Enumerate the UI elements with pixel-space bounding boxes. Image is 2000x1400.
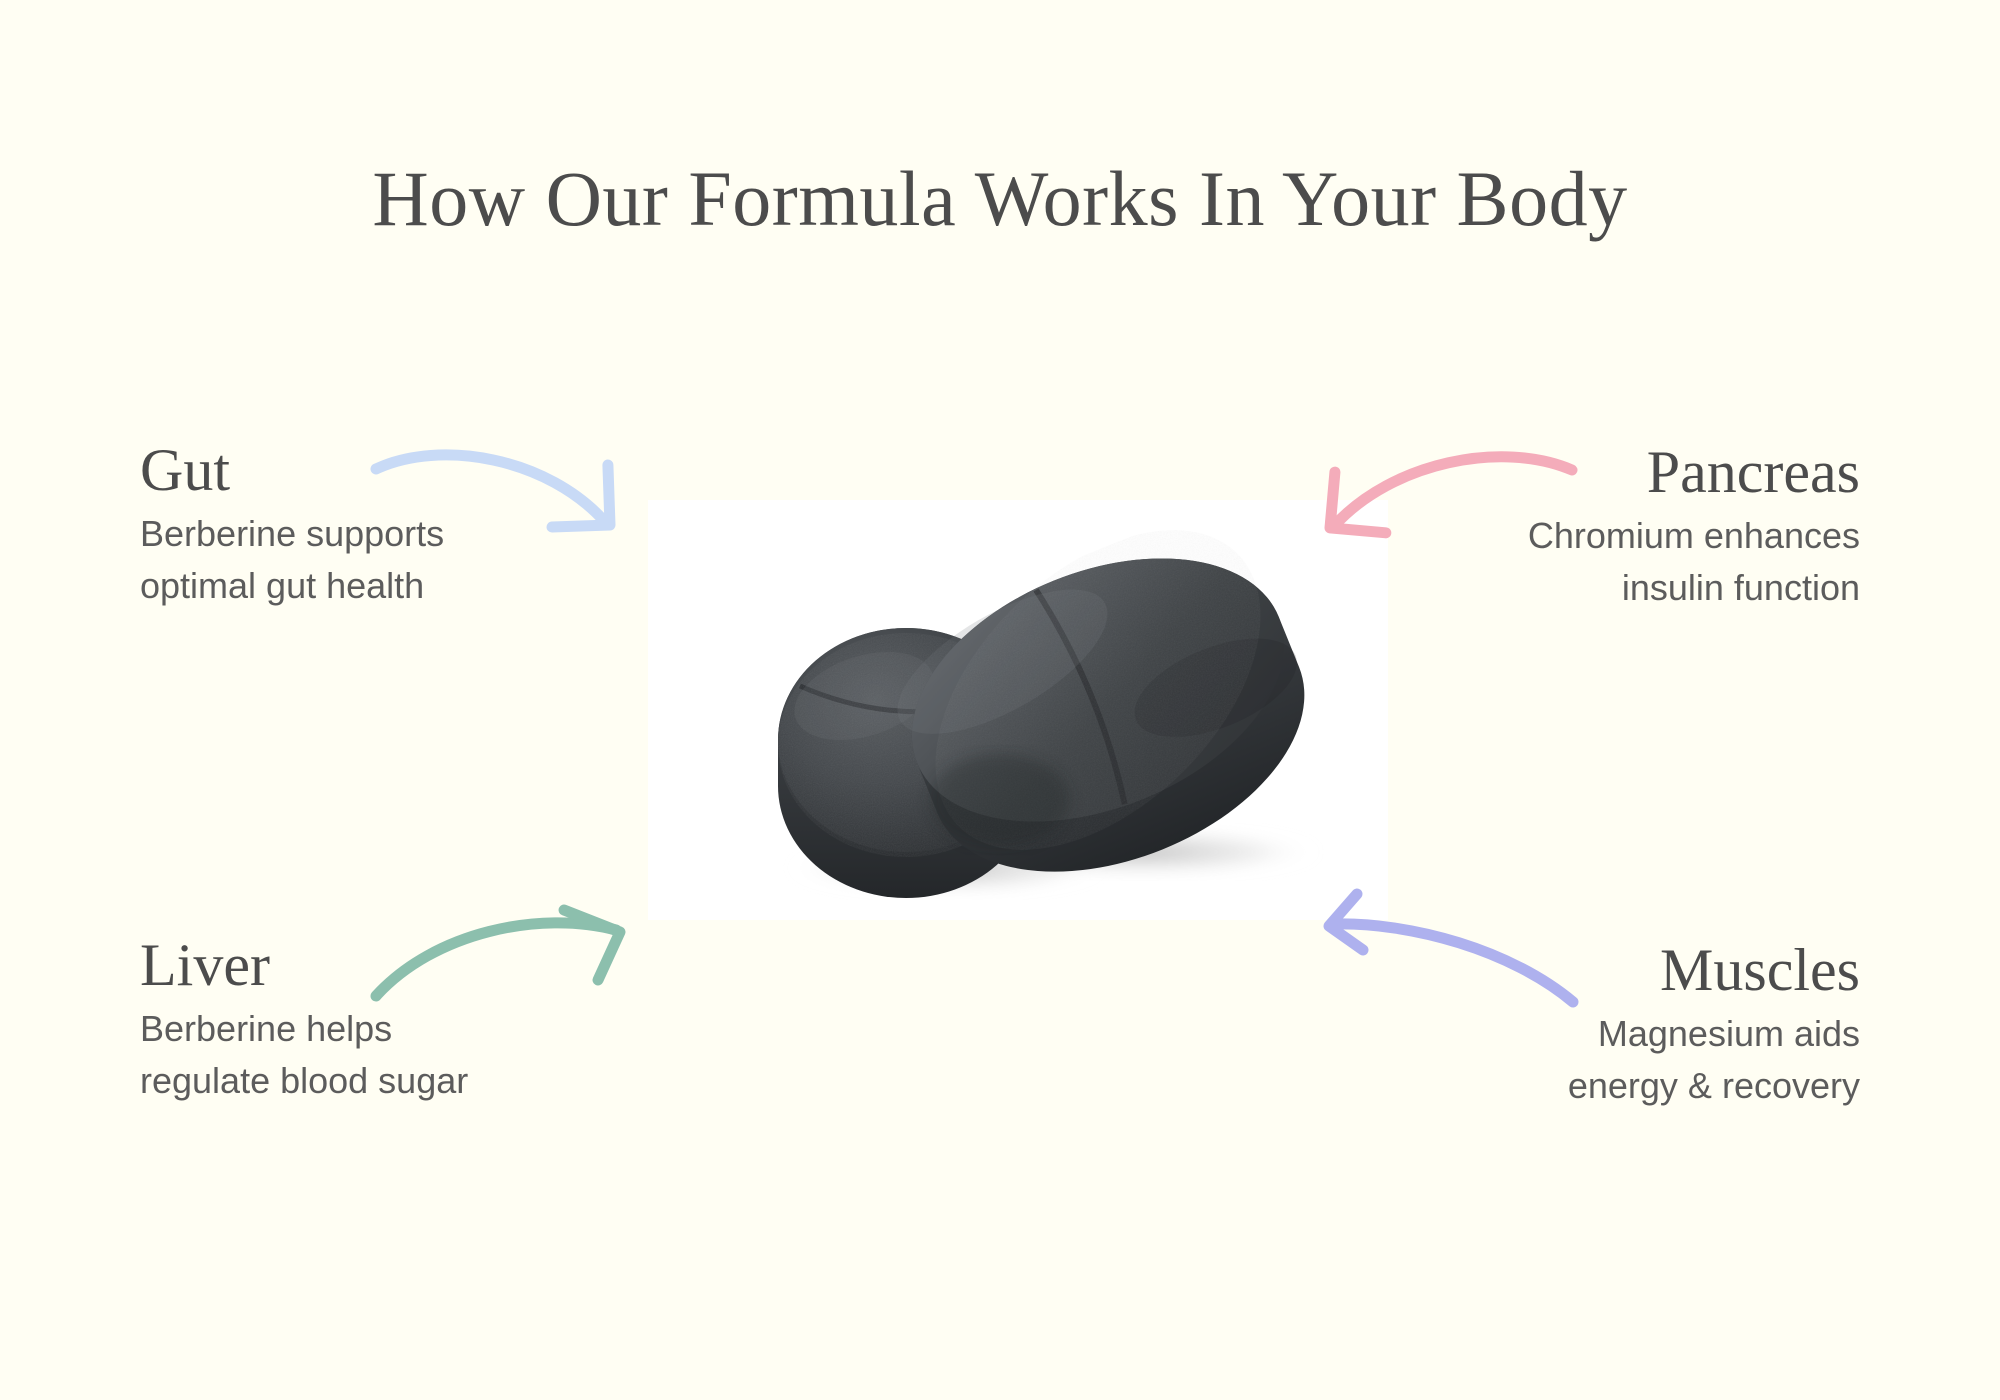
callout-muscles: Muscles Magnesium aids energy & recovery bbox=[1568, 940, 1860, 1112]
callout-muscles-title: Muscles bbox=[1568, 940, 1860, 1000]
page-title: How Our Formula Works In Your Body bbox=[0, 160, 2000, 238]
callout-gut-title: Gut bbox=[140, 440, 444, 500]
callout-liver-title: Liver bbox=[140, 935, 468, 995]
callout-gut-description: Berberine supports optimal gut health bbox=[140, 508, 444, 612]
callout-muscles-description: Magnesium aids energy & recovery bbox=[1568, 1008, 1860, 1112]
callout-pancreas-description: Chromium enhances insulin function bbox=[1528, 510, 1860, 614]
product-photo bbox=[648, 500, 1388, 920]
callout-gut: Gut Berberine supports optimal gut healt… bbox=[140, 440, 444, 612]
callout-pancreas: Pancreas Chromium enhances insulin funct… bbox=[1528, 442, 1860, 614]
callout-liver-description: Berberine helps regulate blood sugar bbox=[140, 1003, 468, 1107]
callout-liver: Liver Berberine helps regulate blood sug… bbox=[140, 935, 468, 1107]
tablets-illustration bbox=[648, 500, 1388, 920]
callout-pancreas-title: Pancreas bbox=[1528, 442, 1860, 502]
infographic-canvas: How Our Formula Works In Your Body bbox=[0, 0, 2000, 1400]
